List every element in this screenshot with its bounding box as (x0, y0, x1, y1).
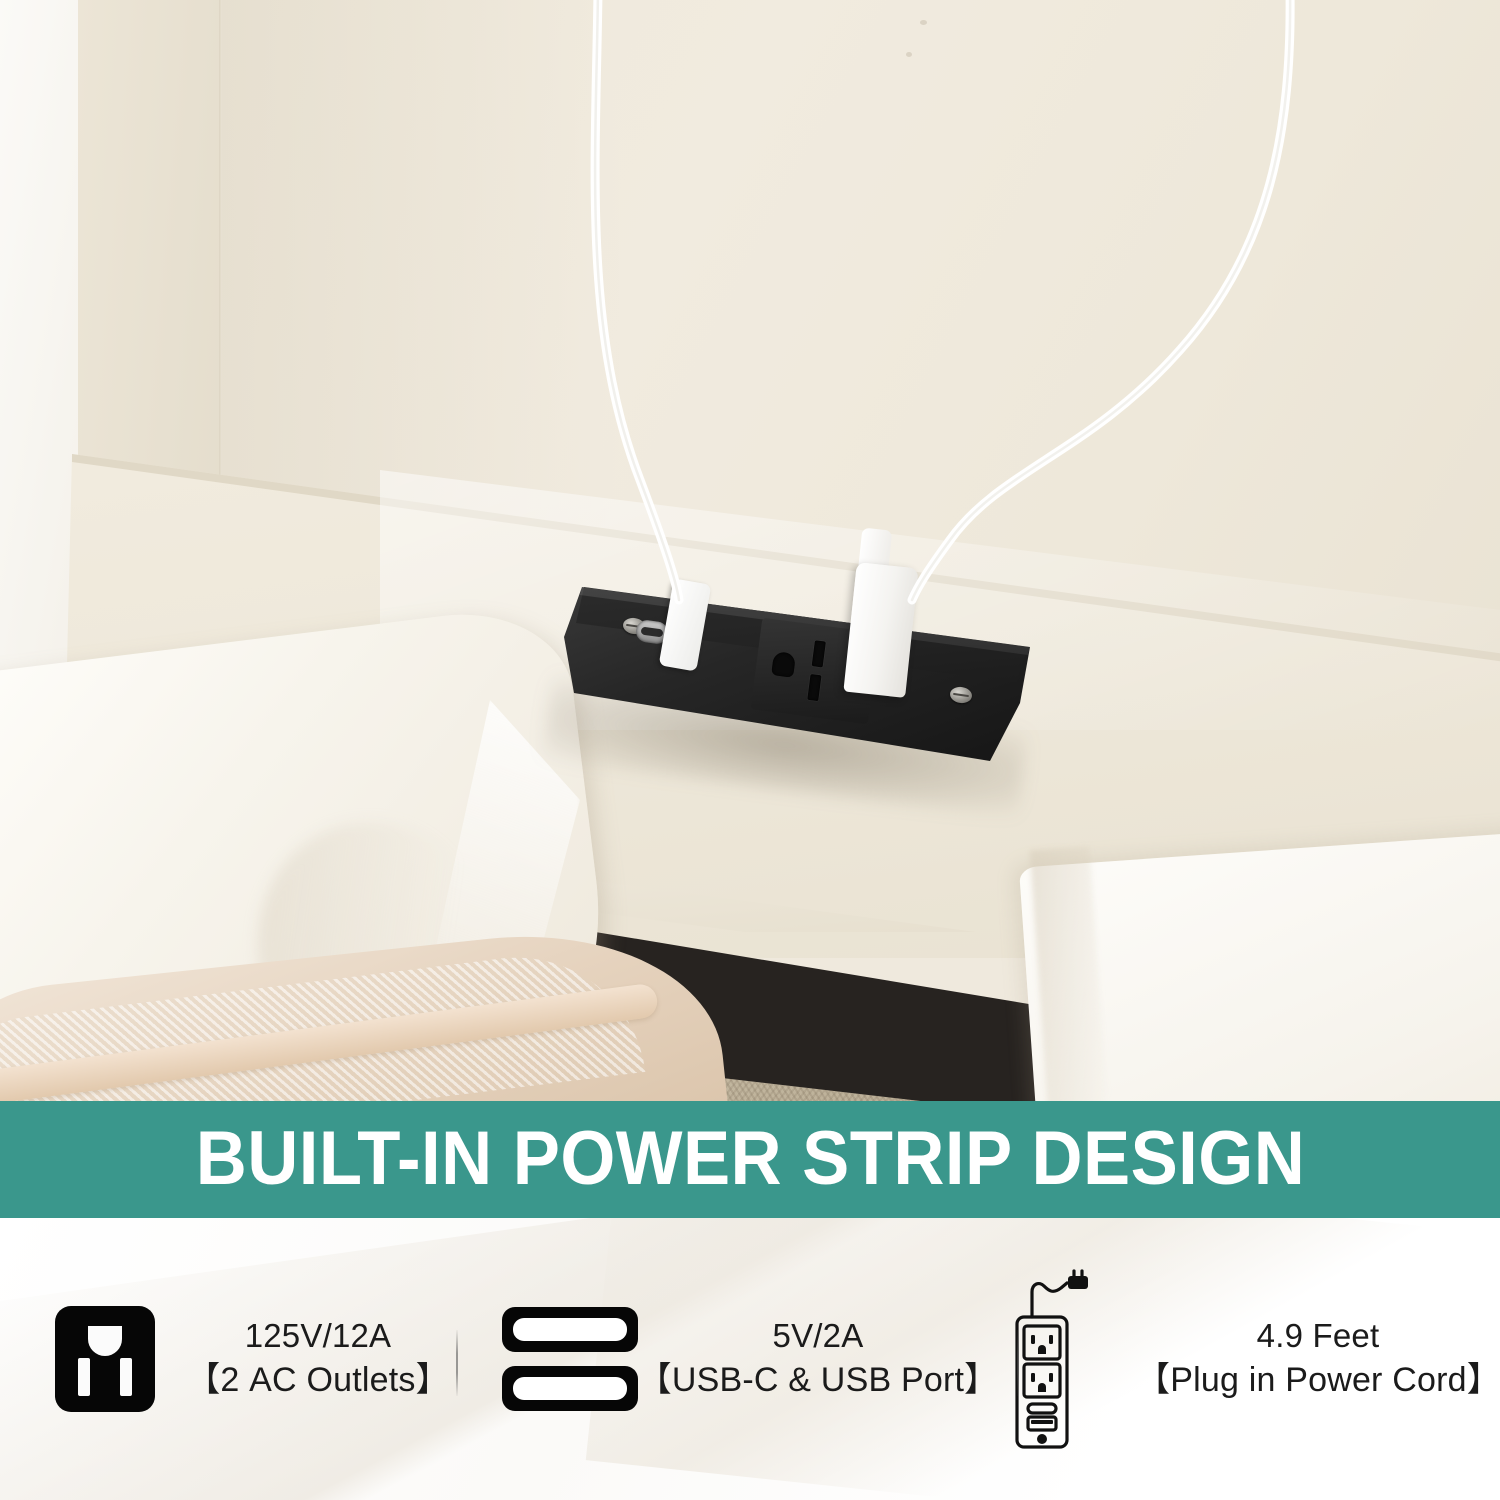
usb-cable-cord (595, 0, 679, 600)
feature-item-power-cord: 4.9 Feet 【Plug in Power Cord】 (1000, 1218, 1500, 1500)
usb-cable-shading (595, 0, 679, 600)
feature-label-group: 5V/2A 【USB-C & USB Port】 (638, 1315, 999, 1402)
usb-ports-icon-glyph (502, 1307, 612, 1411)
usb-port-glyph (502, 1307, 638, 1352)
headline-text: BUILT-IN POWER STRIP DESIGN (195, 1121, 1304, 1197)
feature-item-usb-ports: 5V/2A 【USB-C & USB Port】 (500, 1218, 1000, 1500)
ac-pin-glyph (120, 1358, 132, 1396)
ac-cable-cord (912, 0, 1290, 600)
feature-item-ac-outlets: 125V/12A 【2 AC Outlets】 (0, 1218, 500, 1500)
ac-outlet-icon (50, 1299, 160, 1419)
feature-label-group: 125V/12A 【2 AC Outlets】 (186, 1315, 450, 1402)
feature-columns: 125V/12A 【2 AC Outlets】 5V/2A 【USB-C & U… (0, 1218, 1500, 1500)
feature-spec-value: 125V/12A (186, 1315, 450, 1358)
hanging-cables (0, 0, 1500, 1101)
product-feature-image: BUILT-IN POWER STRIP DESIGN 125V/12A 【2 … (0, 0, 1500, 1500)
column-divider (1017, 1330, 1019, 1396)
product-photo (0, 0, 1500, 1101)
headline-banner: BUILT-IN POWER STRIP DESIGN (0, 1101, 1500, 1218)
feature-strip: 125V/12A 【2 AC Outlets】 5V/2A 【USB-C & U… (0, 1218, 1500, 1500)
feature-spec-value: 4.9 Feet (1136, 1315, 1500, 1358)
usb-port-glyph (502, 1366, 638, 1411)
feature-spec-name: 【USB-C & USB Port】 (638, 1358, 999, 1402)
ac-cable-shading (912, 0, 1290, 600)
feature-spec-name: 【Plug in Power Cord】 (1136, 1358, 1500, 1402)
ac-ground-glyph (88, 1326, 122, 1356)
feature-spec-value: 5V/2A (638, 1315, 999, 1358)
power-strip-cord-icon-glyph (1005, 1264, 1105, 1454)
feature-spec-name: 【2 AC Outlets】 (186, 1358, 450, 1402)
usb-ports-icon (502, 1299, 612, 1419)
ac-pin-glyph (78, 1358, 90, 1396)
ac-outlet-icon-glyph (55, 1306, 155, 1412)
column-divider (456, 1330, 458, 1396)
feature-label-group: 4.9 Feet 【Plug in Power Cord】 (1136, 1315, 1500, 1402)
